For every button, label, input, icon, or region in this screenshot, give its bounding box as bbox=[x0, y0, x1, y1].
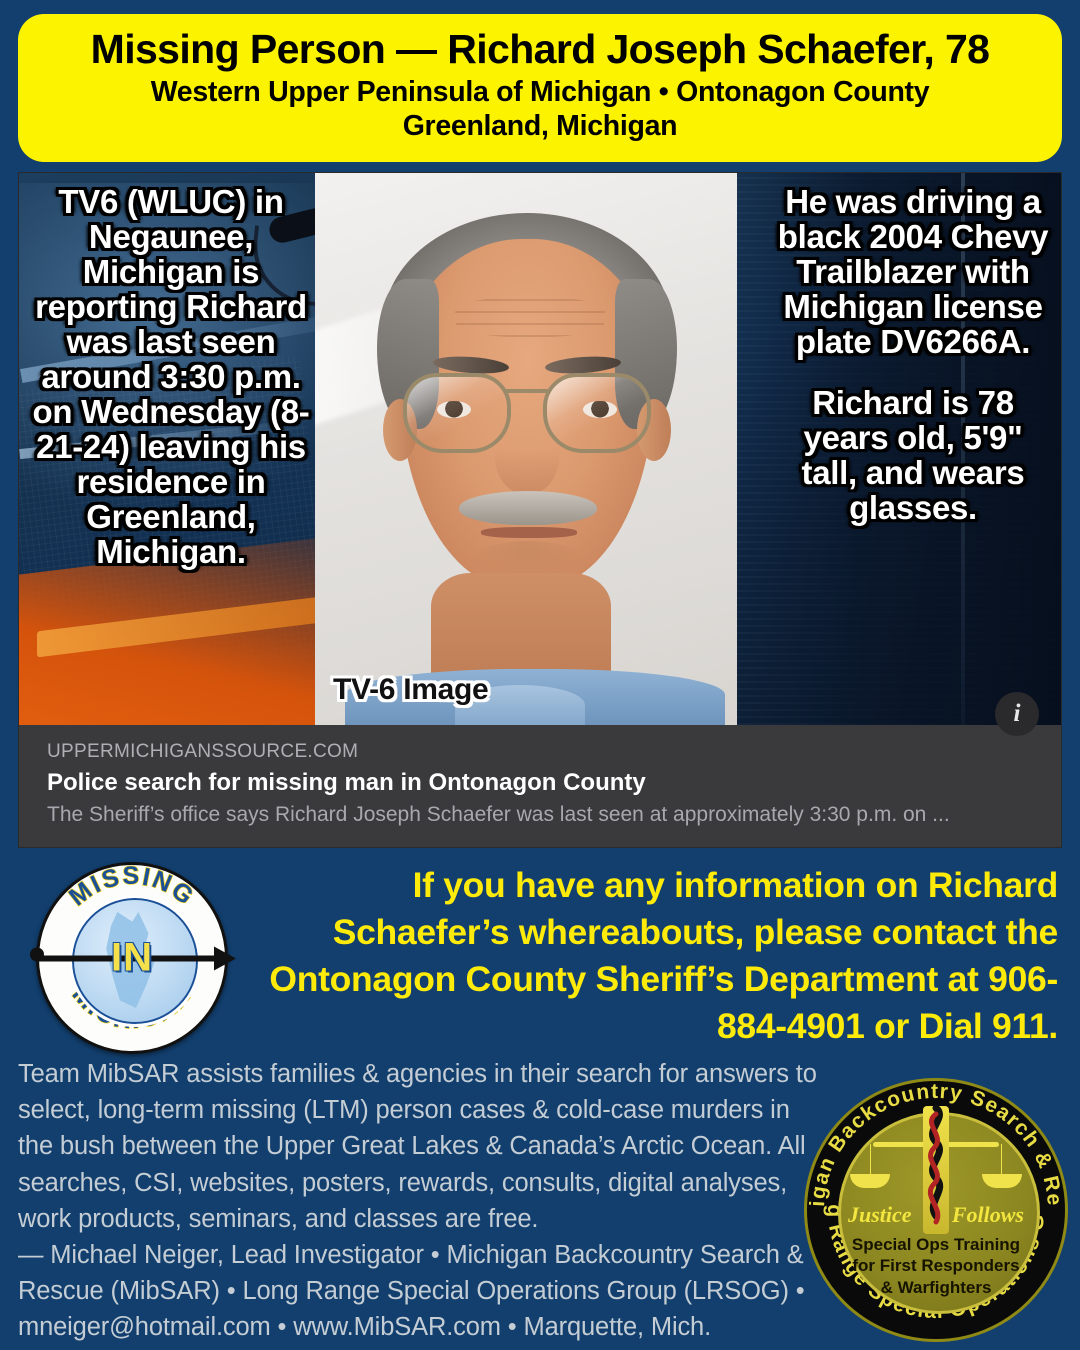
scales-left-string bbox=[870, 1144, 871, 1174]
mouth bbox=[481, 527, 577, 538]
mim-center-text: IN bbox=[111, 936, 153, 981]
overlay-spacer bbox=[773, 360, 1053, 386]
mibsar-subtitle-line2: for First Responders bbox=[804, 1255, 1068, 1276]
overlay-text-right: He was driving a black 2004 Chevy Trailb… bbox=[773, 185, 1053, 526]
missing-in-michigan-logo: MISSING MICHIGAN IN bbox=[36, 862, 228, 1054]
header-subtitle-line2: Greenland, Michigan bbox=[403, 110, 678, 144]
mibsar-motto-row: Justice Follows bbox=[804, 1202, 1068, 1228]
header-banner: Missing Person — Richard Joseph Schaefer… bbox=[18, 14, 1062, 162]
page-title: Missing Person — Richard Joseph Schaefer… bbox=[91, 29, 990, 70]
mibsar-motto-left: Justice bbox=[848, 1202, 912, 1228]
link-preview-domain: UPPERMICHIGANSSOURCE.COM bbox=[47, 741, 1033, 763]
social-media-link-card[interactable]: TV6 (WLUC) in Negaunee, Michigan is repo… bbox=[18, 172, 1062, 848]
organization-footer-text: Team MibSAR assists families & agencies … bbox=[18, 1056, 818, 1346]
mibsar-subtitle-block: Special Ops Training for First Responder… bbox=[804, 1234, 1068, 1298]
header-subtitle-line1: Western Upper Peninsula of Michigan • On… bbox=[151, 76, 930, 110]
face-illustration bbox=[377, 205, 677, 605]
mibsar-subtitle-line3: & Warfighters bbox=[804, 1277, 1068, 1298]
photo-credit-label: TV-6 Image bbox=[333, 673, 488, 707]
overlay-text-right-vehicle: He was driving a black 2004 Chevy Trailb… bbox=[773, 185, 1053, 360]
nose bbox=[495, 419, 559, 495]
mibsar-motto-right: Follows bbox=[952, 1202, 1024, 1228]
glasses-bridge bbox=[503, 389, 551, 393]
news-screenshot-image: TV6 (WLUC) in Negaunee, Michigan is repo… bbox=[19, 173, 1061, 725]
missing-person-poster: Missing Person — Richard Joseph Schaefer… bbox=[0, 0, 1080, 1350]
contact-call-to-action: If you have any information on Richard S… bbox=[232, 862, 1058, 1049]
mustache bbox=[459, 491, 597, 525]
overlay-text-right-description: Richard is 78 years old, 5'9" tall, and … bbox=[773, 386, 1053, 526]
mibsar-seal-logo: Michigan Backcountry Search & Rescue Lon… bbox=[804, 1078, 1068, 1342]
right-lens bbox=[543, 373, 651, 453]
forehead-wrinkles bbox=[455, 297, 605, 337]
overlay-text-left: TV6 (WLUC) in Negaunee, Michigan is repo… bbox=[29, 185, 313, 570]
link-preview-title[interactable]: Police search for missing man in Ontonag… bbox=[47, 769, 1033, 797]
mibsar-subtitle-line1: Special Ops Training bbox=[804, 1234, 1068, 1255]
info-icon[interactable]: i bbox=[995, 692, 1039, 736]
link-preview-strip[interactable]: i UPPERMICHIGANSSOURCE.COM Police search… bbox=[19, 725, 1061, 848]
scales-right-string bbox=[1001, 1144, 1002, 1174]
link-preview-description: The Sheriff’s office says Richard Joseph… bbox=[47, 803, 1033, 827]
missing-person-photo bbox=[315, 173, 737, 725]
